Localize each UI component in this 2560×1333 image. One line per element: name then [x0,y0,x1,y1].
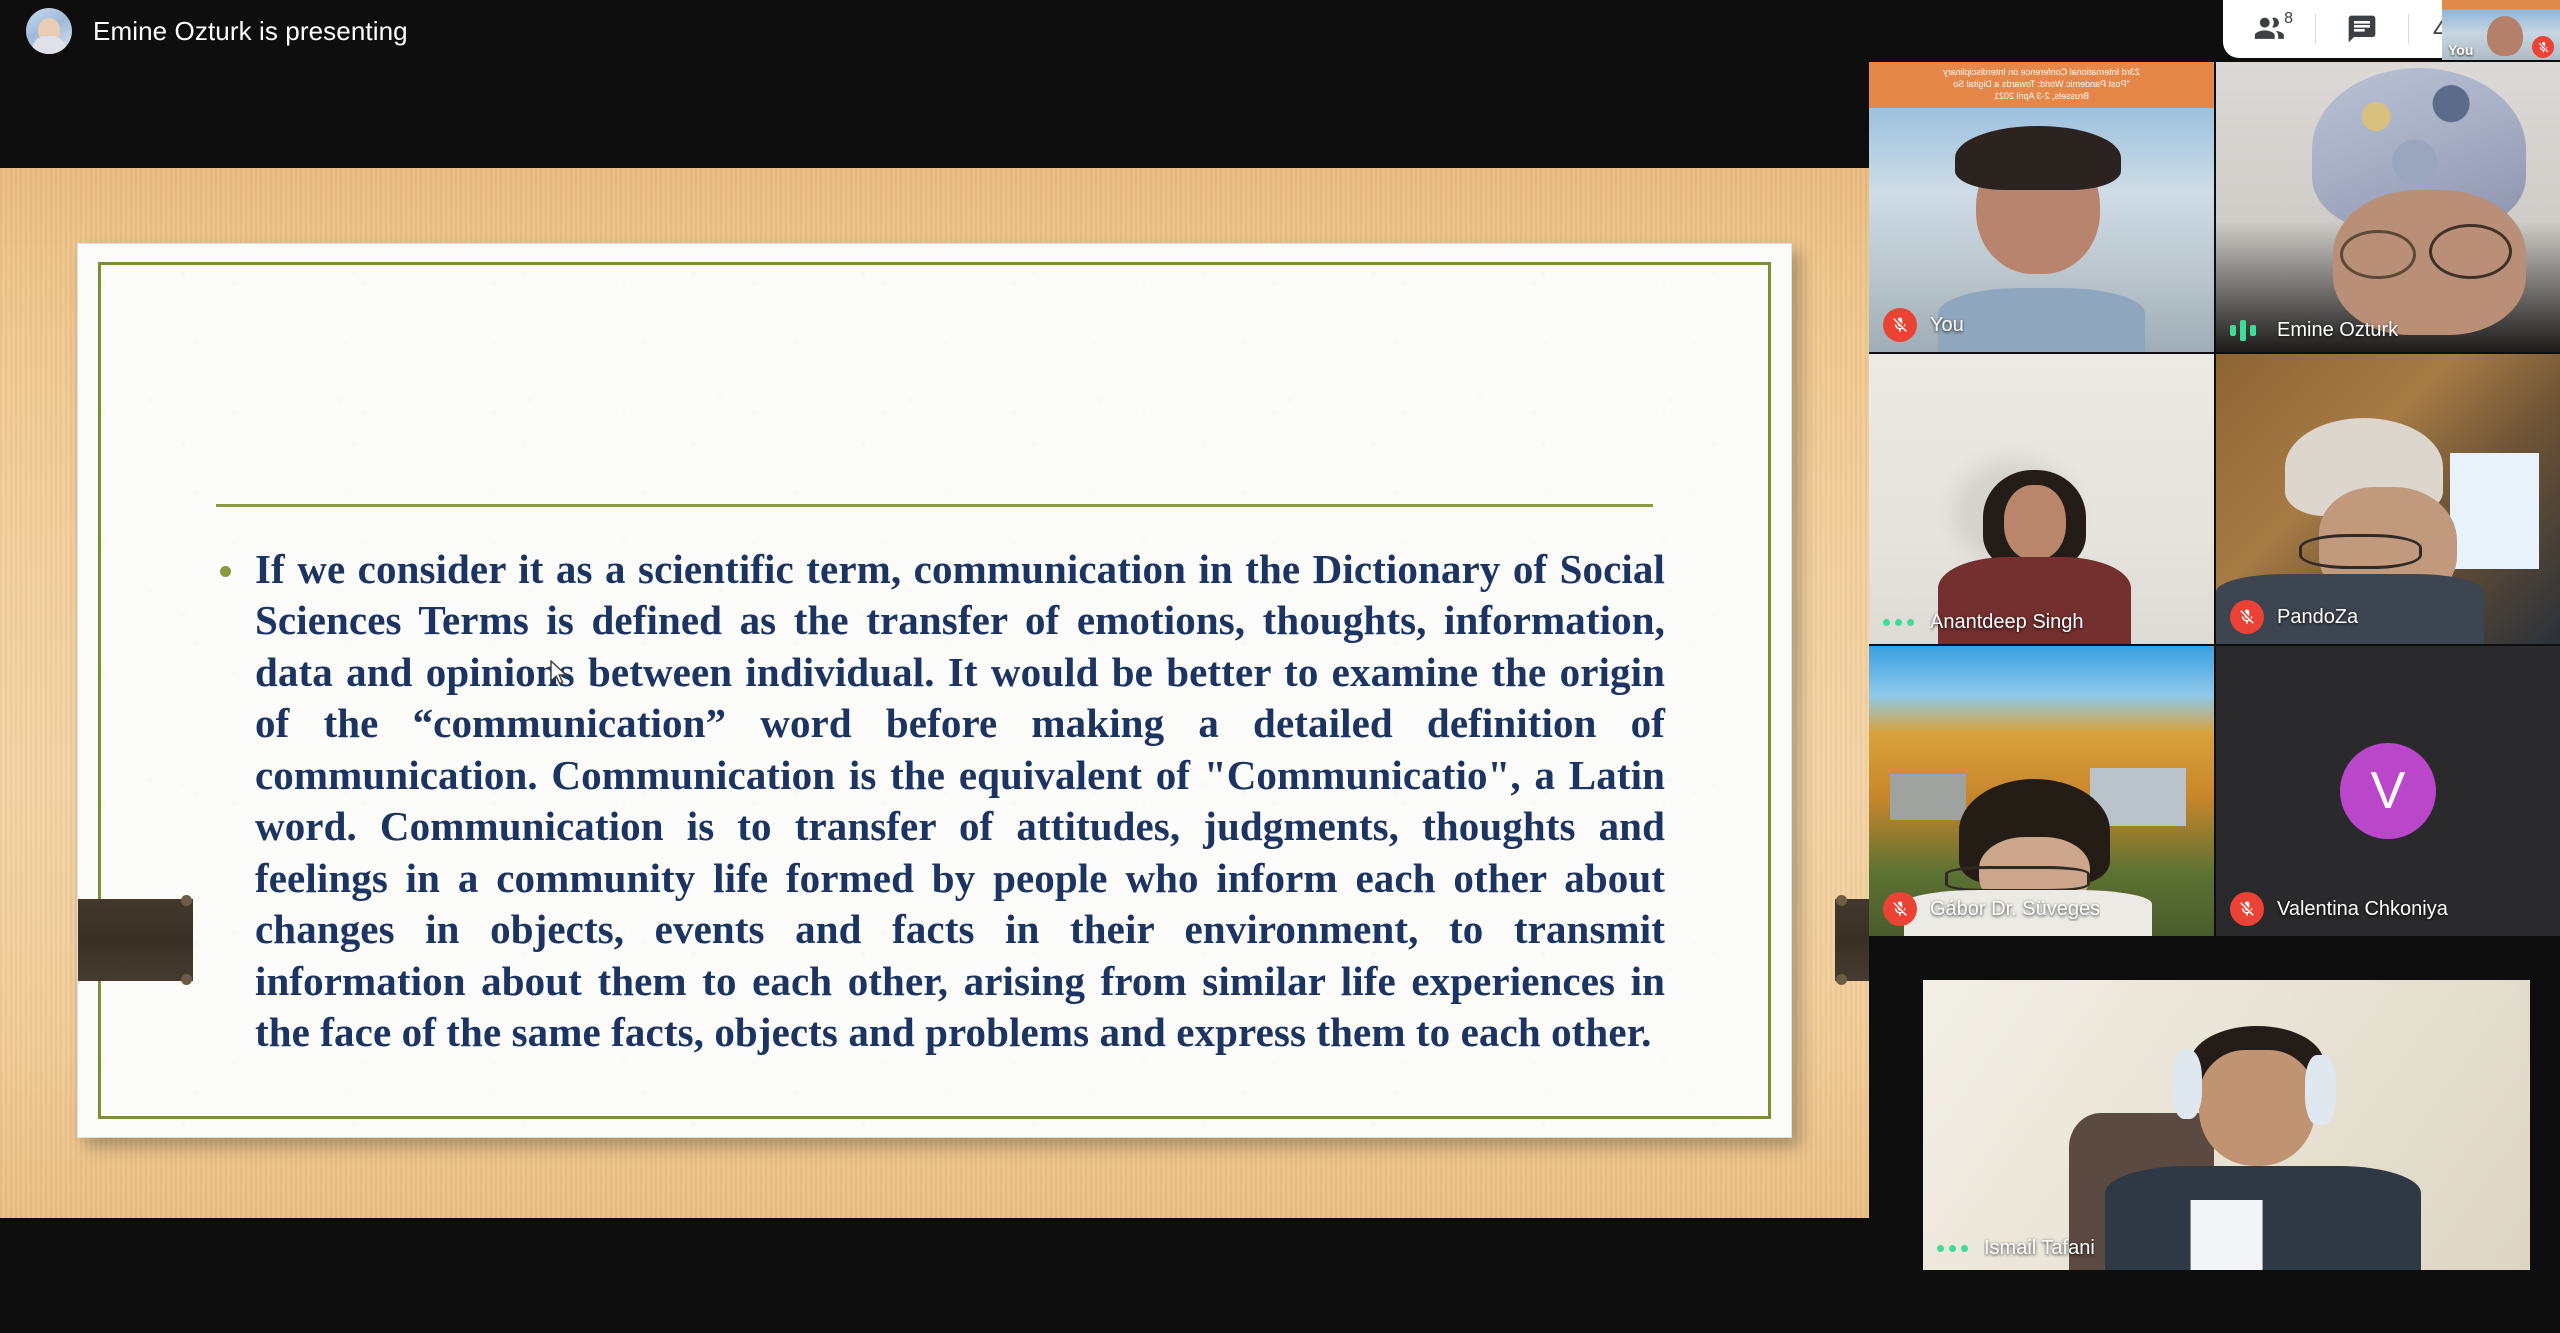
participant-shirt [1938,288,2145,352]
meet-window: Emine Ozturk is presenting 8 4:30 PM You [0,0,2560,1333]
participant-label: Emine Ozturk [2230,319,2398,342]
chat-icon [2346,13,2378,45]
slide-divider-rule [216,504,1653,507]
participant-tile-emine-ozturk[interactable]: Emine Ozturk [2216,62,2560,352]
ribbon-knob-icon [181,974,192,985]
self-view-tile[interactable]: You [2442,0,2560,60]
participant-label: Ismail Tafani [1937,1237,2095,1260]
participant-label: Valentina Chkoniya [2230,892,2448,926]
participant-tile-pandoza[interactable]: PandoZa [2216,354,2560,644]
participant-glasses [2299,534,2423,569]
participants-count-badge: 8 [2284,10,2293,28]
mic-off-icon [1883,892,1917,926]
participant-name: Anantdeep Singh [1930,611,2083,634]
bullet-dot-icon [220,566,231,577]
participant-label: You [1883,308,1964,342]
participant-name: Valentina Chkoniya [2277,898,2448,921]
ribbon-knob-icon [1836,895,1847,906]
mic-off-icon [2230,892,2264,926]
participant-name: Gábor Dr. Süveges [1930,898,2100,921]
mic-off-icon [1883,308,1917,342]
participant-tile-you[interactable]: 23rd International Conference on Interdi… [1869,62,2214,352]
self-view-face [2487,16,2523,56]
decorative-ribbon-right [1835,899,1869,981]
participants-button[interactable]: 8 [2223,0,2315,58]
participant-glasses-left [2340,230,2416,279]
presenting-status-text: Emine Ozturk is presenting [93,16,408,47]
audio-dots-icon [1883,619,1917,626]
slide-bullet-item: If we consider it as a scientific term, … [220,544,1665,1059]
participant-name: You [1930,314,1964,337]
participant-video [1869,354,2214,644]
participant-label: Anantdeep Singh [1883,611,2083,634]
decorative-ribbon-left [78,899,193,981]
mic-off-icon [2230,600,2264,634]
mouse-cursor-icon [549,660,571,686]
participant-glasses-right [2429,224,2512,279]
participant-face [2199,1050,2314,1166]
participant-headphone-right [2305,1055,2335,1125]
participant-name: Emine Ozturk [2277,319,2398,342]
participant-hair [1955,126,2121,190]
ribbon-knob-icon [1836,974,1847,985]
self-view-label: You [2448,42,2473,58]
participant-video [1923,980,2530,1270]
participant-glasses [1945,866,2090,892]
conference-banner-text: 23rd International Conference on Interdi… [1879,66,2204,102]
participant-video [2216,62,2560,352]
participant-label: Gábor Dr. Süveges [1883,892,2100,926]
top-bar: Emine Ozturk is presenting [0,0,2560,62]
participant-shirt [2190,1200,2263,1270]
avatar [26,8,72,54]
participant-grid: 23rd International Conference on Interdi… [1869,0,2560,1333]
participant-avatar: V [2340,743,2436,839]
audio-dots-icon [1937,1245,1971,1252]
participant-window [2450,453,2539,569]
participant-name: PandoZa [2277,606,2358,629]
audio-level-icon [2230,320,2264,342]
slide-body-text: If we consider it as a scientific term, … [255,544,1665,1059]
chat-button[interactable] [2316,0,2408,58]
participant-tile-valentina-chkoniya[interactable]: V Valentina Chkoniya [2216,646,2560,936]
participant-face [2004,485,2066,560]
participant-tile-ismail-tafani[interactable]: Ismail Tafani [1923,980,2530,1270]
participant-headphone-left [2172,1050,2202,1120]
people-icon [2252,12,2286,46]
participant-tile-anantdeep-singh[interactable]: Anantdeep Singh [1869,354,2214,644]
participant-name: Ismail Tafani [1984,1237,2095,1260]
background-building-left [1890,774,1966,820]
slide-paper: If we consider it as a scientific term, … [77,243,1792,1138]
presentation-stage[interactable]: If we consider it as a scientific term, … [0,168,1869,1218]
ribbon-knob-icon [181,895,192,906]
self-view-mic-off-icon [2532,36,2554,58]
participant-tile-gabor-suveges[interactable]: Gábor Dr. Süveges [1869,646,2214,936]
participant-label: PandoZa [2230,600,2358,634]
